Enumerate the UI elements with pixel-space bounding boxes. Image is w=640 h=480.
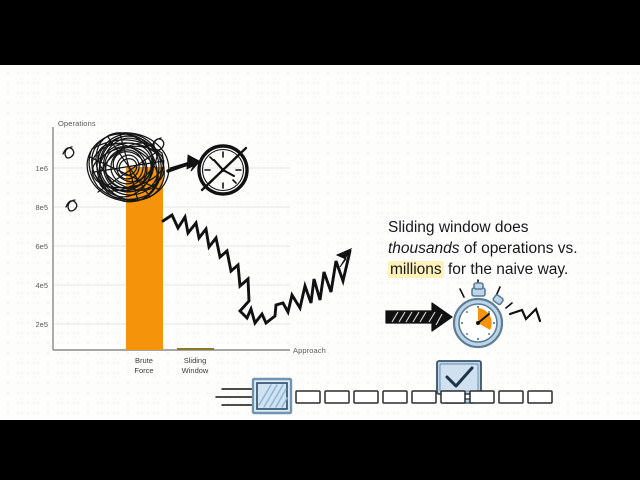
array-cell xyxy=(383,391,407,403)
hatched-arrow-icon xyxy=(386,303,452,331)
array-cell xyxy=(470,391,494,403)
whiteboard-canvas: Operations Approach 1e6 8e5 6e5 4e5 2e5 … xyxy=(0,65,640,420)
annotation-line-3-rest: for the naive way. xyxy=(444,261,569,278)
spark-zigzag-icon xyxy=(510,309,540,321)
zigzag-line-icon xyxy=(163,215,350,323)
thin-arrow-icon xyxy=(168,155,201,171)
annotation-text-block: Sliding window does thousands of operati… xyxy=(388,217,628,280)
annotation-emphasis-thousands: thousands xyxy=(388,240,460,257)
array-cell xyxy=(499,391,523,403)
array-cell xyxy=(325,391,349,403)
letterbox-bottom xyxy=(0,420,640,480)
array-cell xyxy=(528,391,552,403)
annotation-line-2-rest: of operations vs. xyxy=(460,240,578,257)
annotation-line-3: millions for the naive way. xyxy=(388,259,628,280)
array-cell xyxy=(354,391,378,403)
array-cell xyxy=(412,391,436,403)
stopwatch-icon xyxy=(454,280,512,347)
tangle-scribble-icon xyxy=(79,121,176,214)
annotation-highlight-millions: millions xyxy=(388,261,444,278)
sliding-window-box-icon xyxy=(216,379,291,413)
slow-clock-icon xyxy=(199,146,247,194)
array-strip xyxy=(296,391,552,403)
annotation-line-1: Sliding window does xyxy=(388,217,628,238)
array-cell xyxy=(441,391,465,403)
array-cell xyxy=(296,391,320,403)
annotation-line-1-text: Sliding window does xyxy=(388,219,528,236)
letterbox-top xyxy=(0,0,640,65)
video-frame: Operations Approach 1e6 8e5 6e5 4e5 2e5 … xyxy=(0,0,640,480)
annotation-line-2: thousands of operations vs. xyxy=(388,238,628,259)
